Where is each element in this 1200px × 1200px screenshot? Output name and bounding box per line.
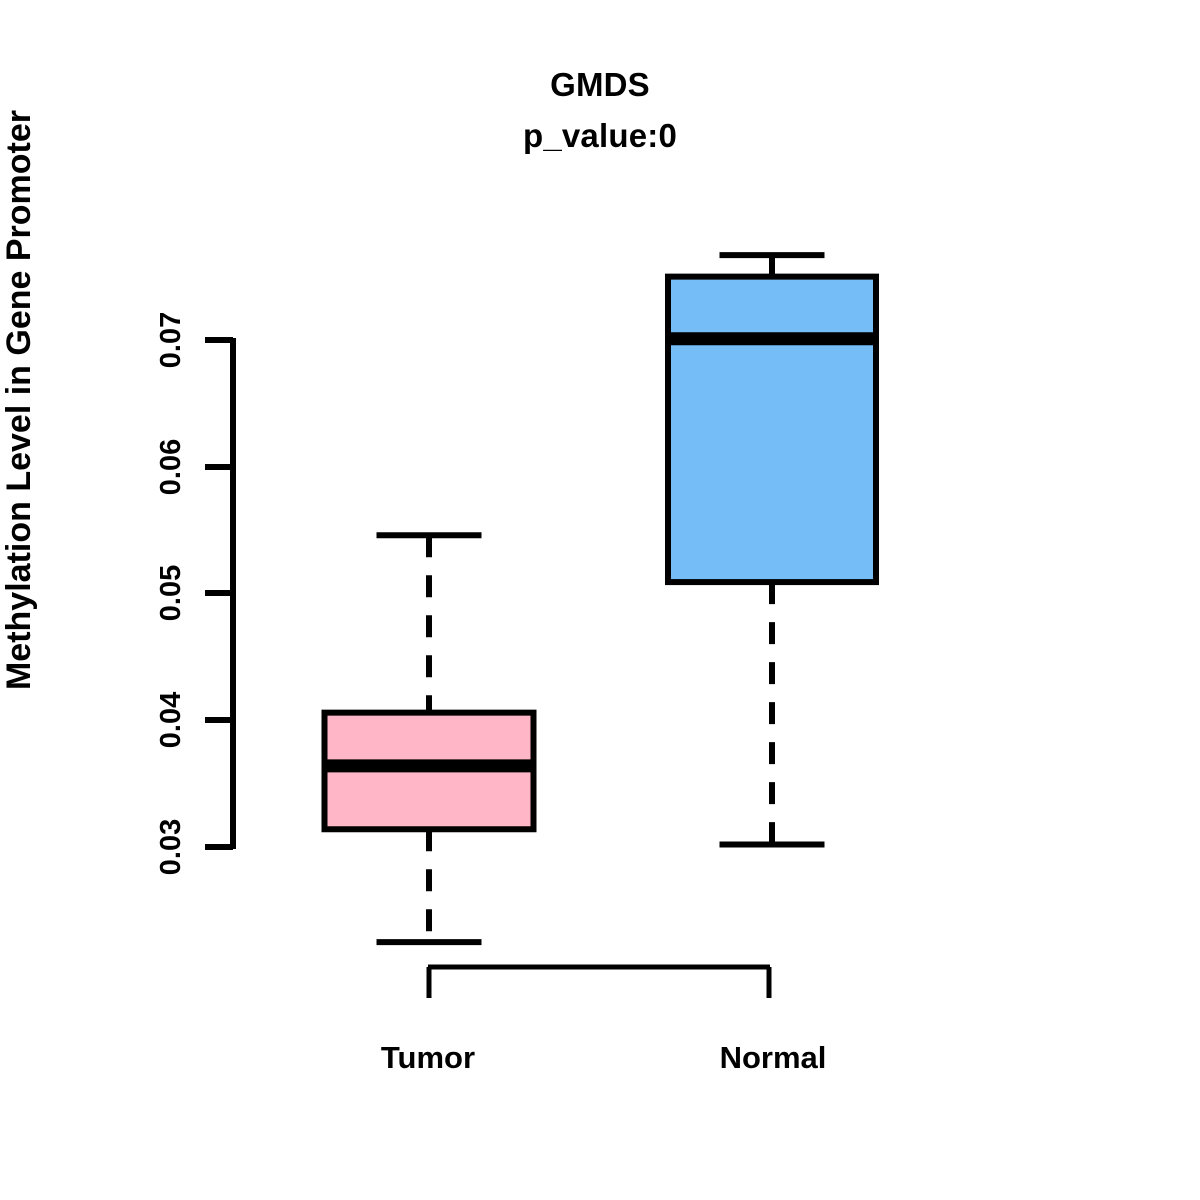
box-group-normal bbox=[665, 255, 879, 844]
y-axis bbox=[205, 338, 233, 849]
normal-box-iqr bbox=[668, 277, 876, 582]
boxplot-figure: GMDS p_value:0 Methylation Level in Gene… bbox=[0, 0, 1200, 1200]
x-axis bbox=[428, 967, 770, 998]
box-group-tumor bbox=[322, 535, 537, 942]
plot-canvas bbox=[0, 0, 1200, 1200]
